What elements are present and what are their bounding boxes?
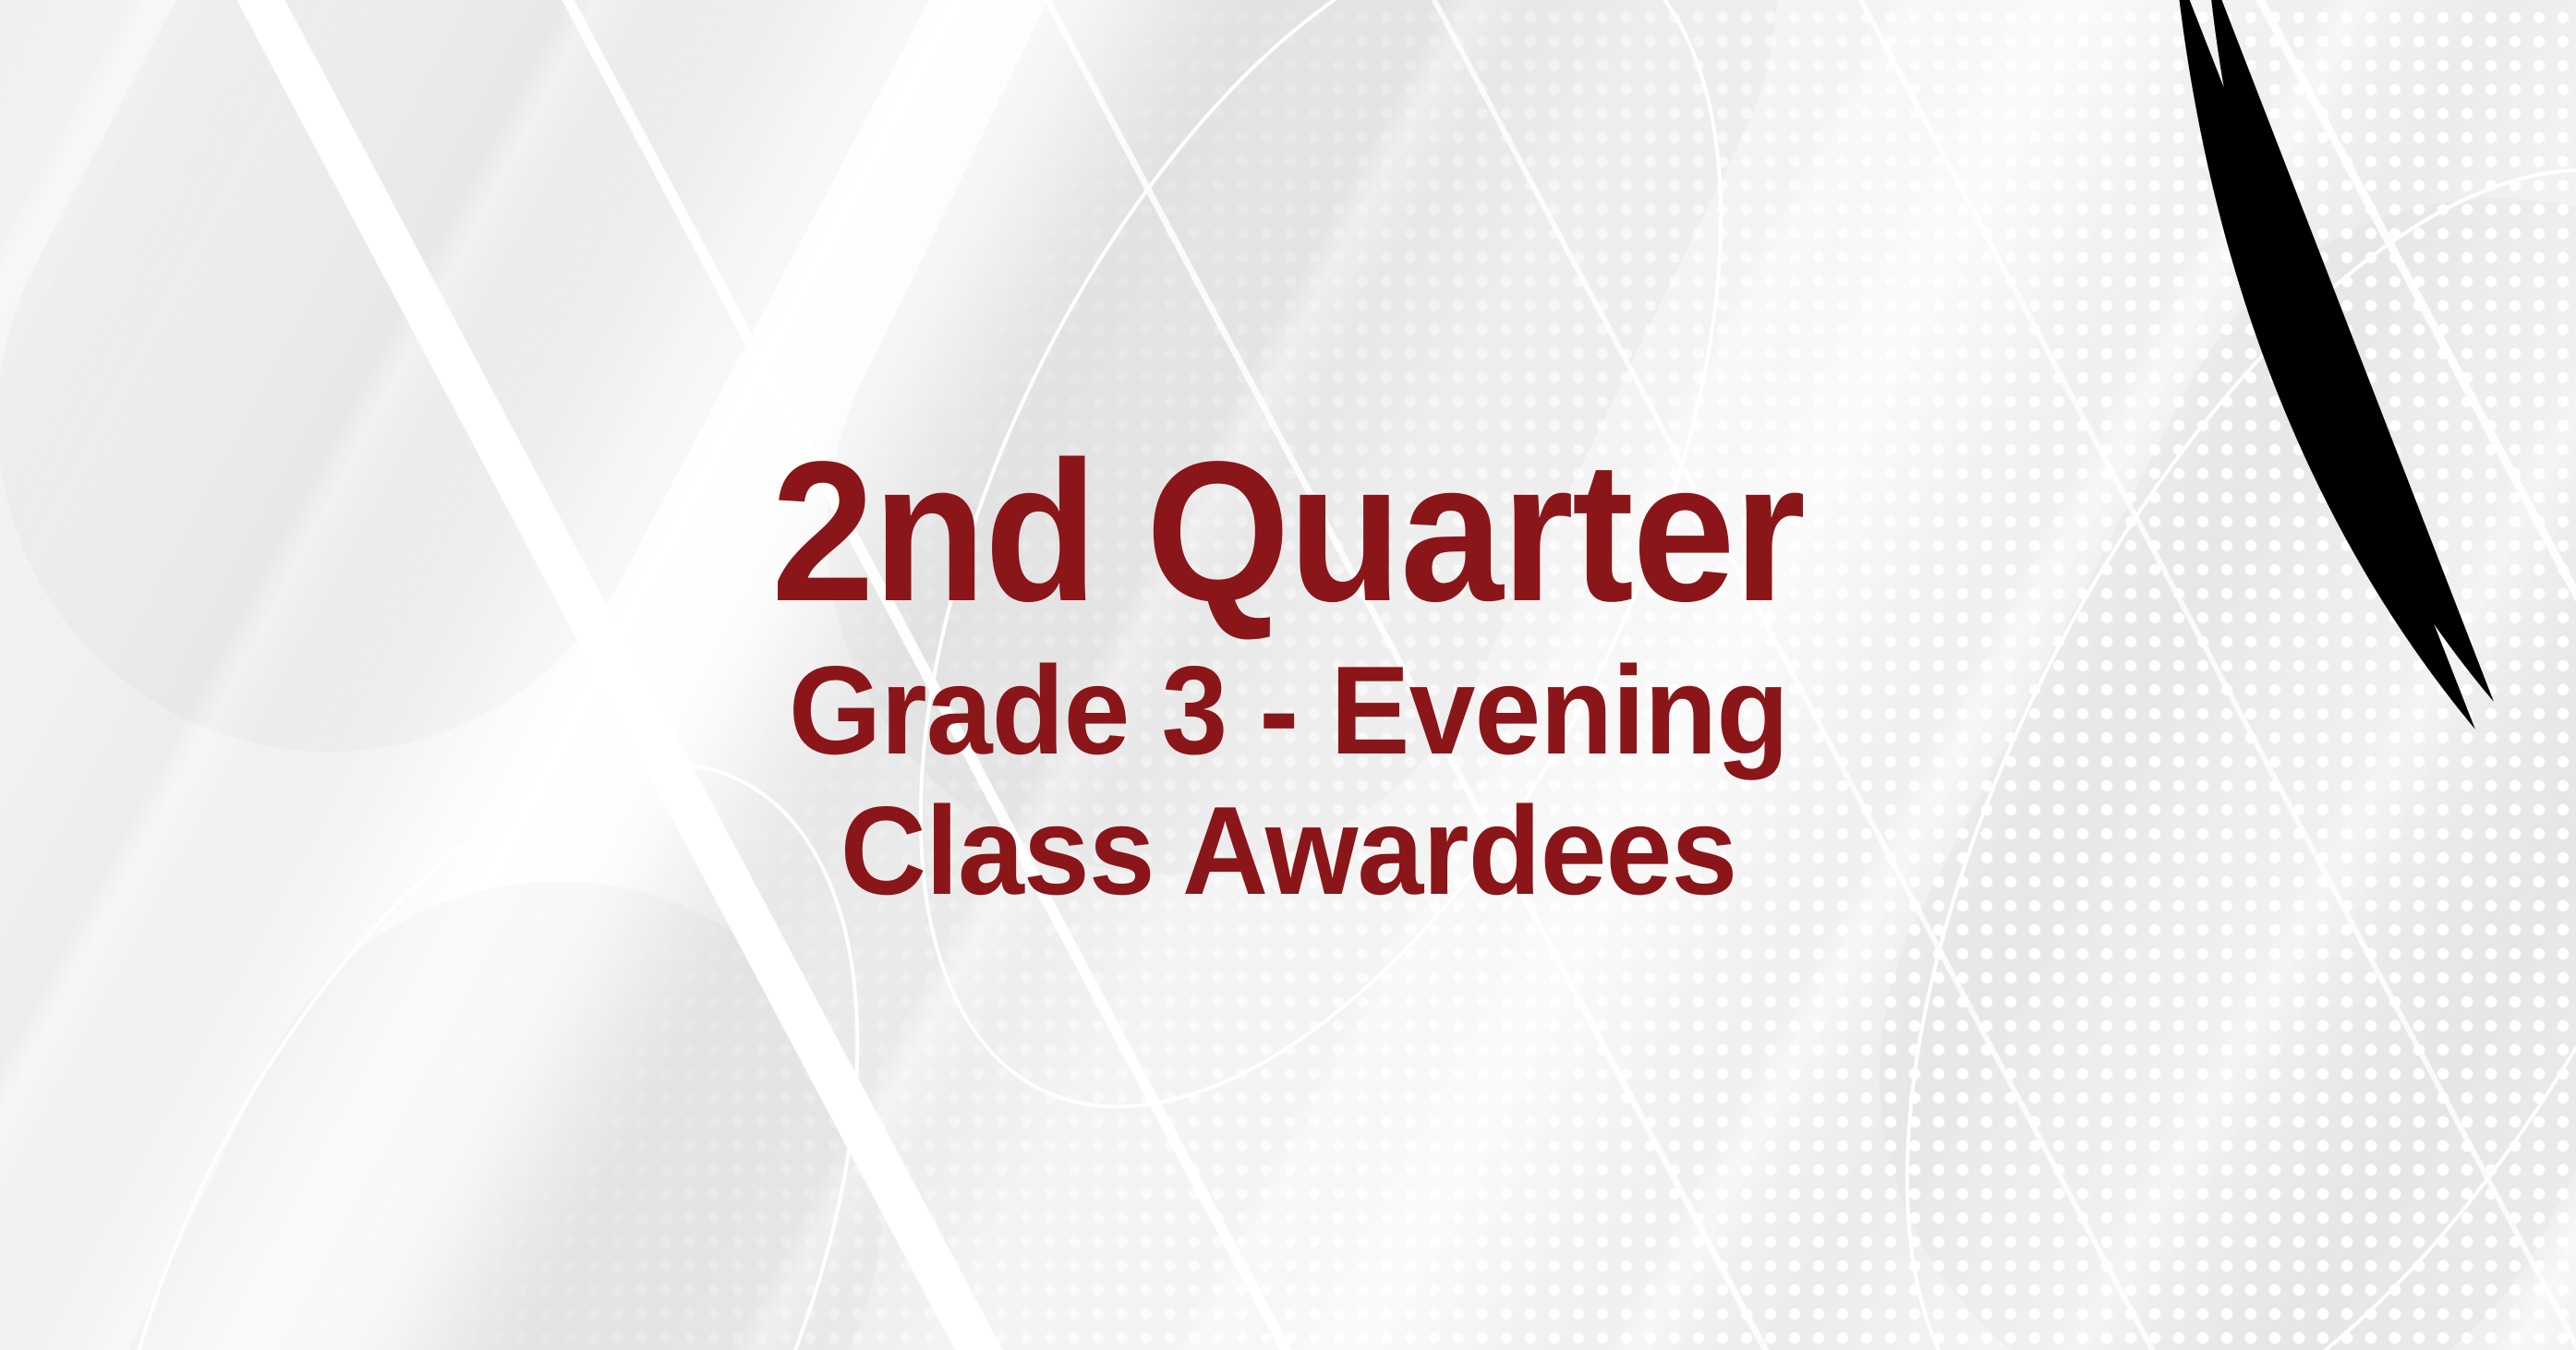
- page-subtitle: Grade 3 - Evening Class Awardees: [630, 640, 1946, 922]
- banner-text-block: 2nd Quarter Grade 3 - Evening Class Awar…: [0, 0, 2576, 1350]
- announcement-banner: 2nd Quarter Grade 3 - Evening Class Awar…: [0, 0, 2576, 1350]
- page-title: 2nd Quarter: [771, 429, 1804, 633]
